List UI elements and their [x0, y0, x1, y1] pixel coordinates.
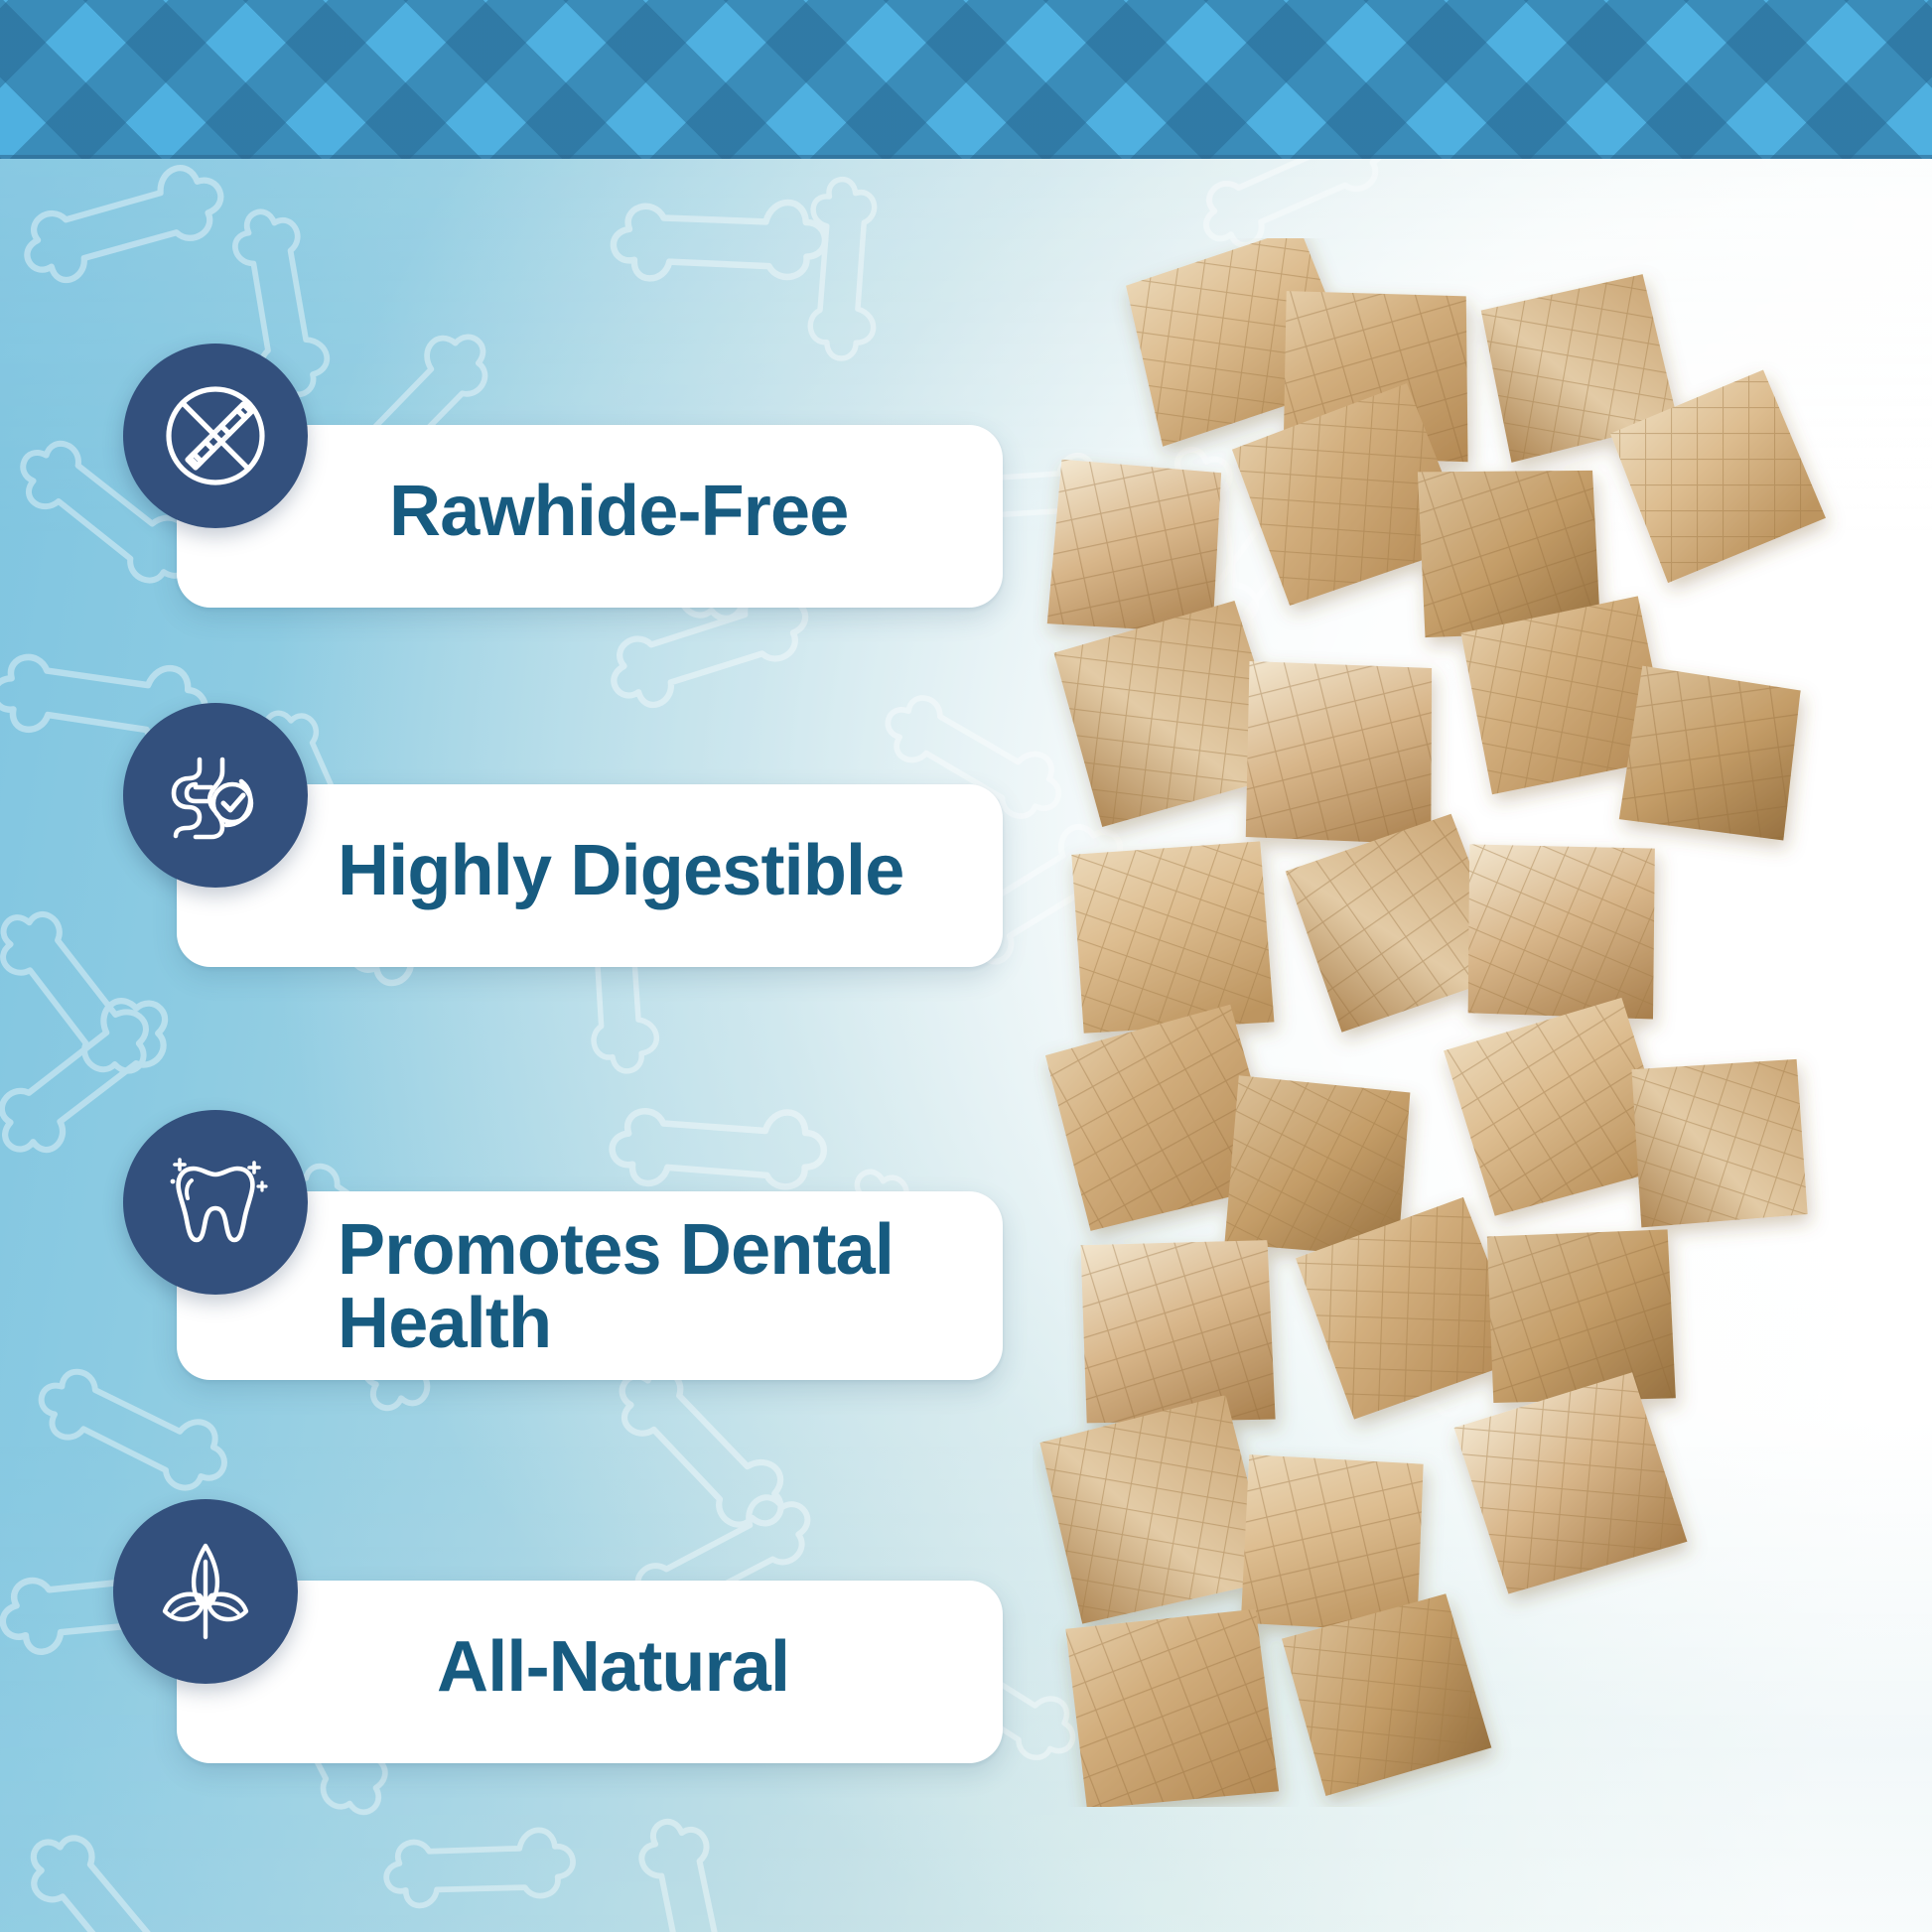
infographic-canvas: Rawhide-Free Highly Digestible [0, 0, 1932, 1932]
intestines-check-icon [123, 703, 308, 888]
feature-list: Rawhide-Free Highly Digestible [0, 0, 1932, 1932]
leaf-sprout-icon [113, 1499, 298, 1684]
feature-label-all-natural: All-Natural [437, 1630, 993, 1705]
feature-label-highly-digestible: Highly Digestible [338, 834, 993, 908]
feature-label-rawhide-free: Rawhide-Free [389, 475, 985, 549]
tooth-sparkle-icon [123, 1110, 308, 1295]
feature-label-promotes-dental-health-line2: Health [338, 1287, 1013, 1361]
feature-label-promotes-dental-health-line1: Promotes Dental [338, 1213, 1013, 1288]
no-rawhide-icon [123, 344, 308, 528]
